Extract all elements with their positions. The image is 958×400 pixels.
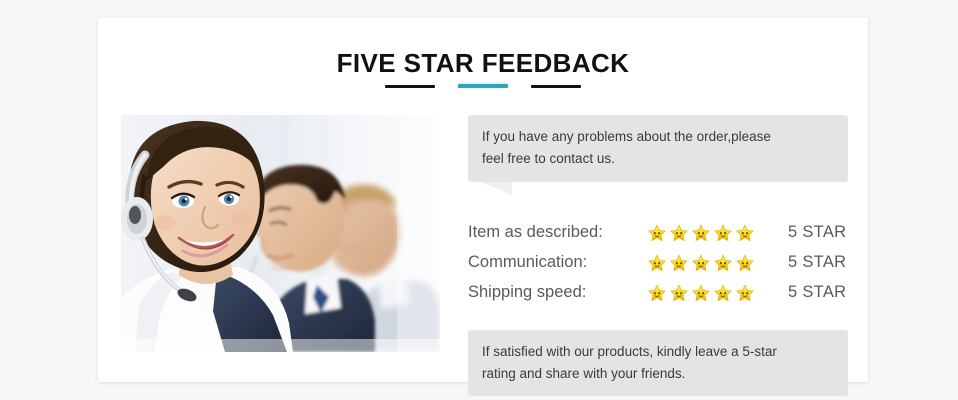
rating-value: 5 STAR — [776, 253, 846, 272]
feedback-details: If you have any problems about the order… — [468, 115, 848, 396]
rating-value: 5 STAR — [776, 283, 846, 302]
star-icon — [670, 254, 688, 272]
feedback-banner: FIVE STAR FEEDBACK — [0, 0, 958, 400]
rating-label: Communication: — [468, 253, 648, 272]
satisfaction-message-bubble: If satisfied with our products, kindly l… — [468, 330, 848, 397]
satisfaction-message-line-1: If satisfied with our products, kindly l… — [482, 341, 834, 363]
star-icon — [714, 254, 732, 272]
rating-row-communication: Communication: 5 STAR — [468, 248, 848, 278]
satisfaction-message-line-2: rating and share with your friends. — [482, 363, 834, 385]
rating-label: Shipping speed: — [468, 283, 648, 302]
star-icon — [648, 254, 666, 272]
star-icon — [736, 284, 754, 302]
page-title: FIVE STAR FEEDBACK — [98, 48, 868, 79]
star-icon — [692, 254, 710, 272]
divider-dash-right — [531, 85, 581, 88]
rating-label: Item as described: — [468, 223, 648, 242]
star-rating-group — [648, 224, 776, 242]
star-icon — [670, 224, 688, 242]
contact-message-line-2: feel free to contact us. — [482, 148, 834, 170]
star-icon — [692, 224, 710, 242]
star-icon — [692, 284, 710, 302]
star-icon — [648, 224, 666, 242]
divider-dash-left — [385, 85, 435, 88]
rating-value: 5 STAR — [776, 223, 846, 242]
contact-message-bubble: If you have any problems about the order… — [468, 115, 848, 182]
feedback-card: FIVE STAR FEEDBACK — [98, 18, 868, 382]
star-icon — [648, 284, 666, 302]
rating-row-shipping-speed: Shipping speed: 5 STAR — [468, 278, 848, 308]
star-rating-group — [648, 284, 776, 302]
star-icon — [670, 284, 688, 302]
star-icon — [736, 224, 754, 242]
star-icon — [736, 254, 754, 272]
divider-dash-accent — [458, 84, 508, 88]
contact-message-line-1: If you have any problems about the order… — [482, 126, 834, 148]
rating-row-item-as-described: Item as described: 5 STAR — [468, 218, 848, 248]
rating-list: Item as described: 5 STAR Communication: — [468, 218, 848, 308]
title-divider-group — [98, 84, 868, 88]
star-icon — [714, 224, 732, 242]
star-icon — [714, 284, 732, 302]
customer-service-team-photo — [121, 115, 440, 352]
star-rating-group — [648, 254, 776, 272]
